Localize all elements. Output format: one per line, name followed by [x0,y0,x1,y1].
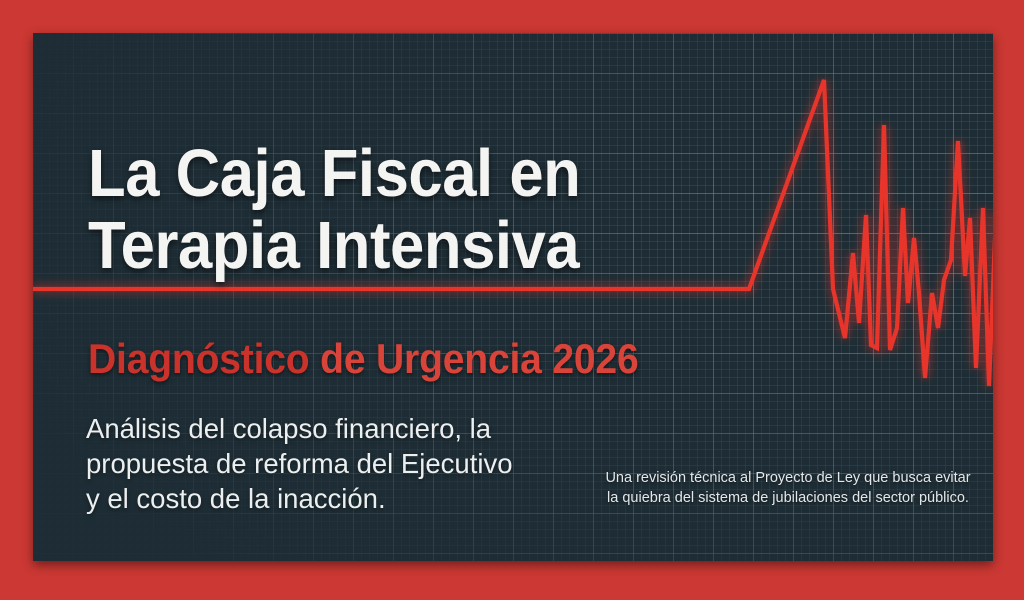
poster-kicker-light: de Urgencia 2026 [309,335,638,382]
poster-title: La Caja Fiscal en Terapia Intensiva [88,138,580,282]
poster-panel: La Caja Fiscal en Terapia Intensiva Diag… [33,33,993,561]
poster-root: La Caja Fiscal en Terapia Intensiva Diag… [0,0,1024,600]
poster-caption: Una revisión técnica al Proyecto de Ley … [578,468,993,508]
poster-kicker: Diagnóstico de Urgencia 2026 [88,336,639,382]
poster-kicker-strong: Diagnóstico [88,335,309,382]
poster-content: La Caja Fiscal en Terapia Intensiva Diag… [88,33,993,561]
poster-lede: Análisis del colapso financiero, la prop… [86,411,556,516]
